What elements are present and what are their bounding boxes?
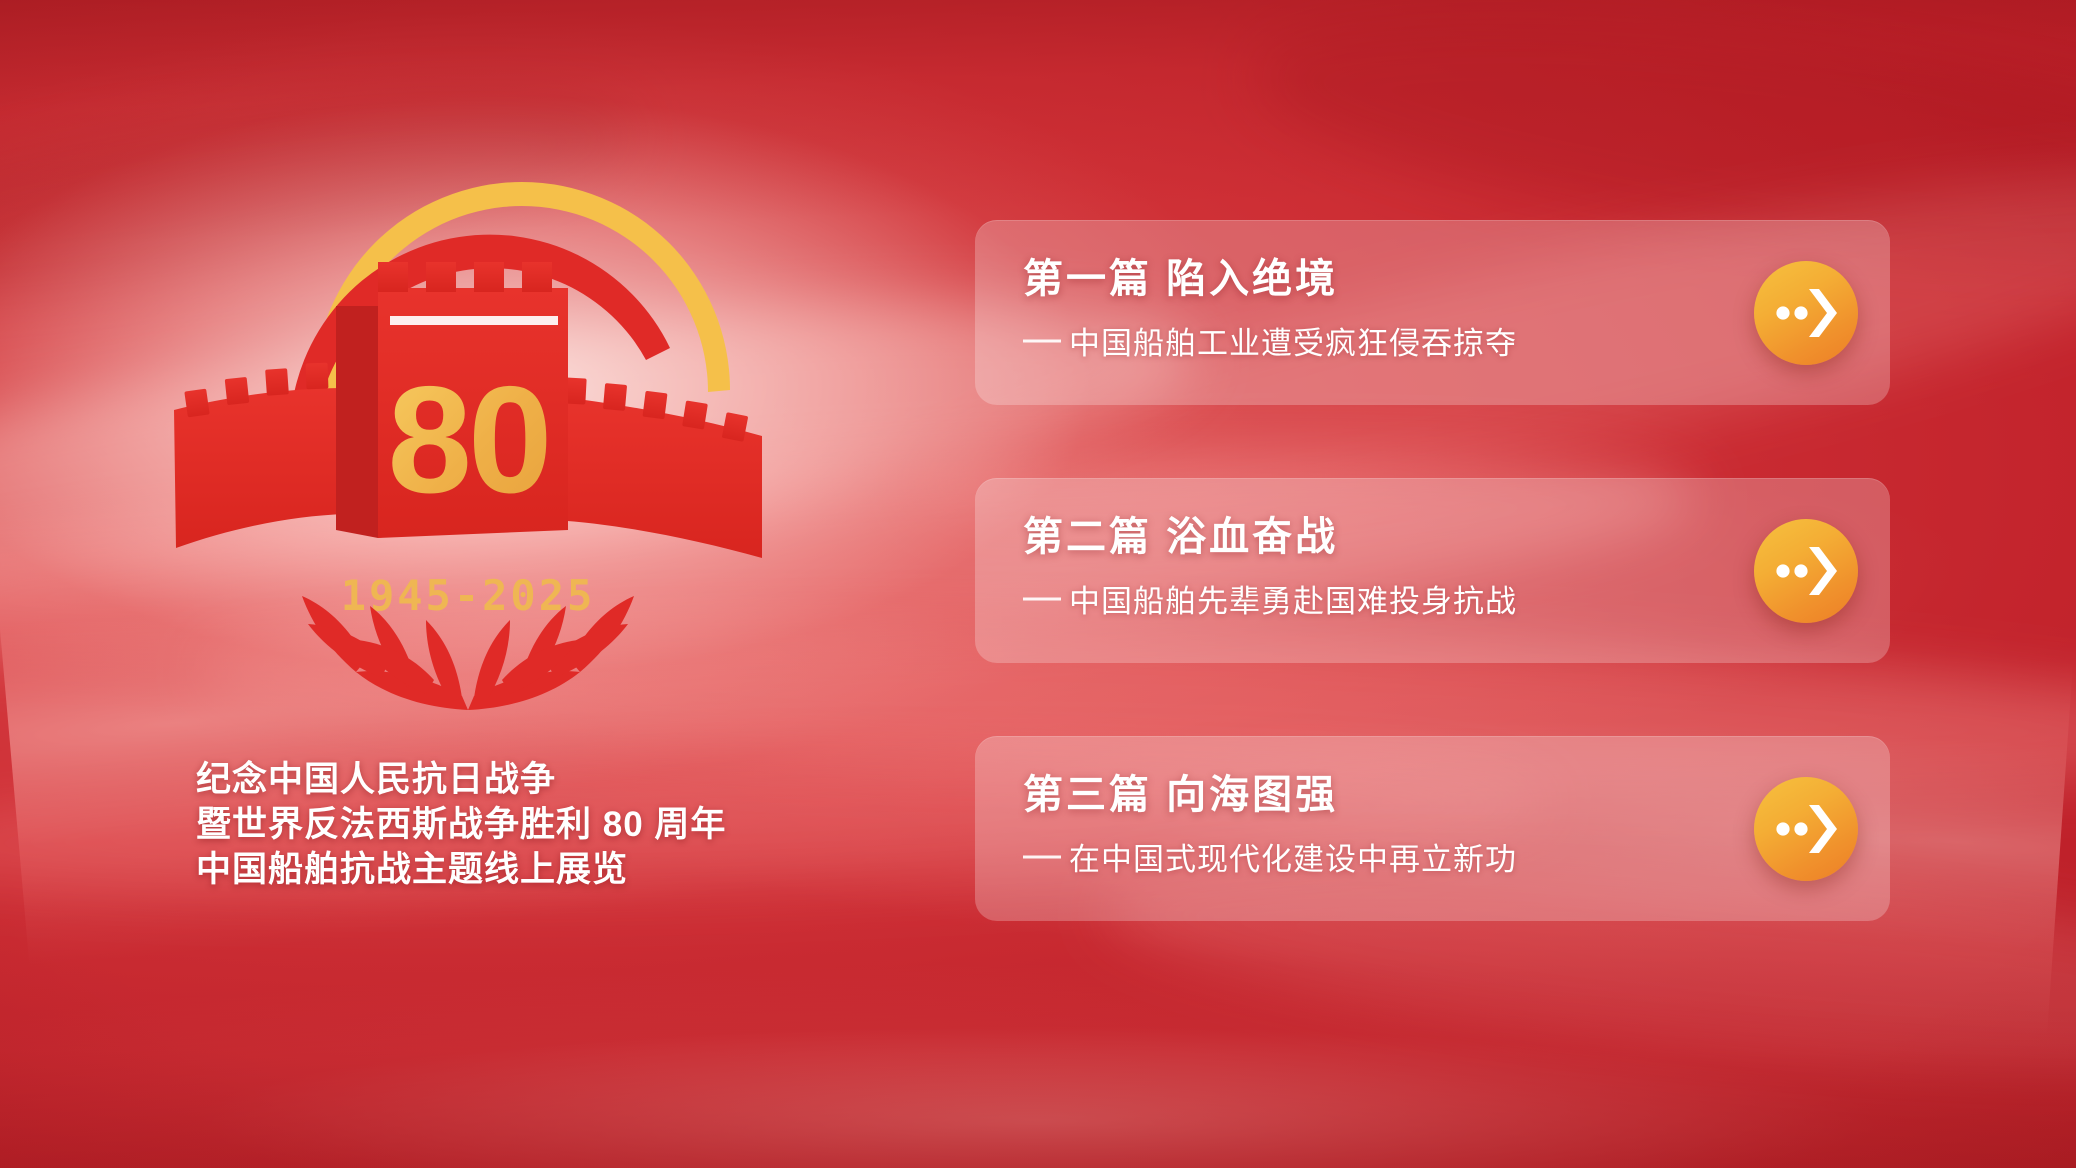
chapter-card-1-title: 第一篇 陷入绝境 [1023,246,1710,304]
headline-line-3: 中国船舶抗战主题线上展览 [196,848,956,893]
emblem-80-number: 80 [387,355,548,525]
chapter-card-1-body: 第一篇 陷入绝境 中国船舶工业遭受疯狂侵吞掠夺 [1023,246,1710,363]
chapter-card-2[interactable]: 第二篇 浴血奋战 中国船舶先辈勇赴国难投身抗战 [975,478,1890,663]
chapter-card-3-body: 第三篇 向海图强 在中国式现代化建设中再立新功 [1023,762,1710,879]
chapter-card-2-body: 第二篇 浴血奋战 中国船舶先辈勇赴国难投身抗战 [1023,504,1710,621]
chevron-right-icon [1769,534,1843,608]
chapter-card-1[interactable]: 第一篇 陷入绝境 中国船舶工业遭受疯狂侵吞掠夺 [975,220,1890,405]
em-dash-rule [1023,855,1061,858]
chapter-card-3[interactable]: 第三篇 向海图强 在中国式现代化建设中再立新功 [975,736,1890,921]
chevron-right-icon [1769,276,1843,350]
chapter-card-2-subtitle-text: 中国船舶先辈勇赴国难投身抗战 [1069,584,1517,619]
emblem-year-range: 1945-2025 [341,571,596,620]
svg-text:80: 80 [387,355,548,525]
chapter-card-1-subtitle-text: 中国船舶工业遭受疯狂侵吞掠夺 [1069,326,1517,361]
chapter-card-2-title: 第二篇 浴血奋战 [1023,504,1710,562]
anniversary-emblem: 80 1945-2025 [150,110,830,770]
chapter-card-3-subtitle-text: 在中国式现代化建设中再立新功 [1069,842,1517,877]
chevron-right-icon [1769,792,1843,866]
headline-line-2: 暨世界反法西斯战争胜利 80 周年 [196,803,956,848]
chapter-card-3-subtitle: 在中国式现代化建设中再立新功 [1023,834,1710,879]
chapter-card-1-go-button[interactable] [1754,261,1858,365]
em-dash-rule [1023,339,1061,342]
poster-root: 80 1945-2025 [0,0,2076,1168]
chapter-card-list: 第一篇 陷入绝境 中国船舶工业遭受疯狂侵吞掠夺 第二篇 浴血奋战 [975,220,1890,921]
chapter-card-3-title: 第三篇 向海图强 [1023,762,1710,820]
chapter-card-3-go-button[interactable] [1754,777,1858,881]
headline-line-1: 纪念中国人民抗日战争 [196,758,956,803]
chapter-card-1-subtitle: 中国船舶工业遭受疯狂侵吞掠夺 [1023,318,1710,363]
chapter-card-2-go-button[interactable] [1754,519,1858,623]
svg-text:1945-2025: 1945-2025 [341,571,596,620]
exhibition-headline: 纪念中国人民抗日战争 暨世界反法西斯战争胜利 80 周年 中国船舶抗战主题线上展… [196,758,956,892]
em-dash-rule [1023,597,1061,600]
chapter-card-2-subtitle: 中国船舶先辈勇赴国难投身抗战 [1023,576,1710,621]
